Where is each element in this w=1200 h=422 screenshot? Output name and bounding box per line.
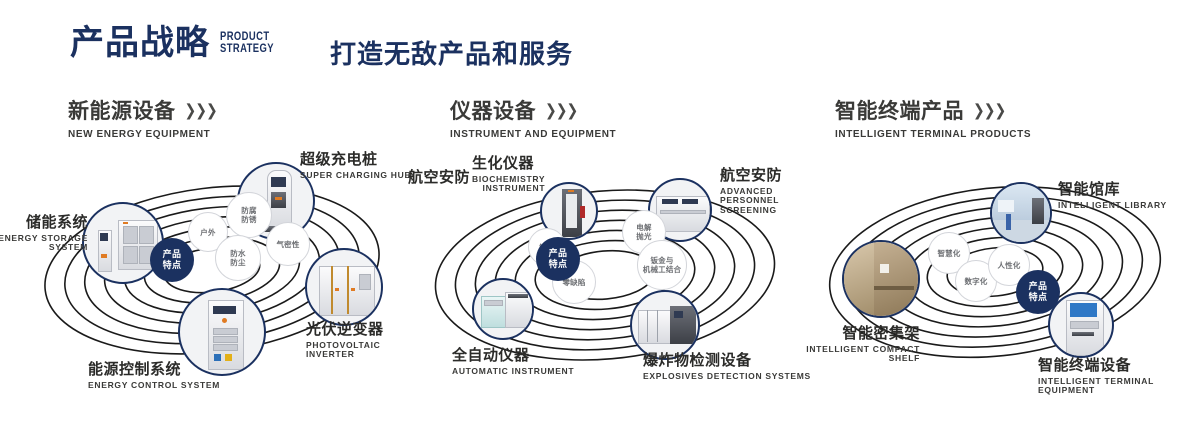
feature-bubble: 防水 防尘 xyxy=(215,235,261,281)
label-intelligent-compact-shelf: 智能密集架 INTELLIGENT COMPACT SHELF xyxy=(782,326,920,364)
page-tagline: 打造无敌产品和服务 xyxy=(330,34,573,71)
chevron-right-triple-icon: ❯❯❯ xyxy=(185,100,217,120)
section-title-cn: 新能源设备 xyxy=(68,95,176,125)
product-strategy-infographic: 产品战略 PRODUCT STRATEGY 打造无敌产品和服务 新能源设备 ❯❯… xyxy=(0,0,1200,422)
section-title-cn: 仪器设备 xyxy=(450,95,536,125)
cluster-intelligent-terminal: 智慧化 数字化 人性化 产品 特点 智能馆库 INTELLIGENT LIBRA… xyxy=(800,150,1200,400)
section-header-new-energy: 新能源设备 ❯❯❯ NEW ENERGY EQUIPMENT xyxy=(68,95,217,140)
node-energy-storage-system[interactable] xyxy=(82,202,164,284)
feature-bubble: 钣金与 机械工结合 xyxy=(637,240,687,290)
cluster-instrument: 镜面 电解 抛光 零缺陷 钣金与 机械工结合 产品 特点 航空安防 生化仪器 B… xyxy=(400,150,820,400)
intelligent-terminal-equipment-photo xyxy=(1050,294,1112,356)
energy-storage-system-photo xyxy=(84,204,162,282)
intelligent-compact-shelf-photo xyxy=(844,242,918,316)
label-super-charging-hub: 超级充电桩 SUPER CHARGING HUB xyxy=(300,152,411,180)
cluster-new-energy: 户外 防腐 防锈 气密性 防水 防尘 产品 特点 储能系统 ENERGY STO… xyxy=(0,150,420,400)
label-automatic-instrument: 全自动仪器 AUTOMATIC INSTRUMENT xyxy=(452,348,574,376)
page-title-en: PRODUCT STRATEGY xyxy=(220,31,274,55)
node-photovoltaic-inverter[interactable] xyxy=(305,248,383,326)
feature-bubble: 防腐 防锈 xyxy=(226,192,272,238)
section-title-en: INTELLIGENT TERMINAL PRODUCTS xyxy=(835,129,1031,140)
section-header-instrument: 仪器设备 ❯❯❯ INSTRUMENT AND EQUIPMENT xyxy=(450,95,616,140)
page-title: 产品战略 xyxy=(70,26,210,60)
label-intelligent-library: 智能馆库 INTELLIGENT LIBRARY xyxy=(1058,182,1167,210)
section-header-intelligent-terminal: 智能终端产品 ❯❯❯ INTELLIGENT TERMINAL PRODUCTS xyxy=(835,95,1031,140)
node-intelligent-terminal-equipment[interactable] xyxy=(1048,292,1114,358)
explosives-detection-systems-photo xyxy=(632,292,698,358)
intelligent-library-photo xyxy=(992,184,1050,242)
section-title-en: INSTRUMENT AND EQUIPMENT xyxy=(450,129,616,140)
label-energy-control-system: 能源控制系统 ENERGY CONTROL SYSTEM xyxy=(88,362,220,390)
label-energy-storage-system: 储能系统 ENERGY STORAGE SYSTEM xyxy=(0,215,88,253)
node-intelligent-compact-shelf[interactable] xyxy=(842,240,920,318)
label-aviation-security: 航空安防 xyxy=(408,170,470,187)
product-features-badge: 产品 特点 xyxy=(536,237,580,281)
chevron-right-triple-icon: ❯❯❯ xyxy=(545,100,577,120)
feature-bubble: 气密性 xyxy=(266,222,310,266)
label-biochemistry-instrument: 生化仪器 BIOCHEMISTRY INSTRUMENT xyxy=(472,156,545,194)
label-intelligent-terminal-equipment: 智能终端设备 INTELLIGENT TERMINAL EQUIPMENT xyxy=(1038,358,1200,396)
photovoltaic-inverter-photo xyxy=(307,250,381,324)
section-title-cn: 智能终端产品 xyxy=(835,95,964,125)
node-intelligent-library[interactable] xyxy=(990,182,1052,244)
node-automatic-instrument[interactable] xyxy=(472,278,534,340)
product-features-badge: 产品 特点 xyxy=(150,238,194,282)
node-explosives-detection-systems[interactable] xyxy=(630,290,700,360)
page-header: 产品战略 PRODUCT STRATEGY xyxy=(70,26,286,60)
section-title-en: NEW ENERGY EQUIPMENT xyxy=(68,129,217,140)
product-features-badge: 产品 特点 xyxy=(1016,270,1060,314)
chevron-right-triple-icon: ❯❯❯ xyxy=(973,100,1005,120)
automatic-instrument-photo xyxy=(474,280,532,338)
